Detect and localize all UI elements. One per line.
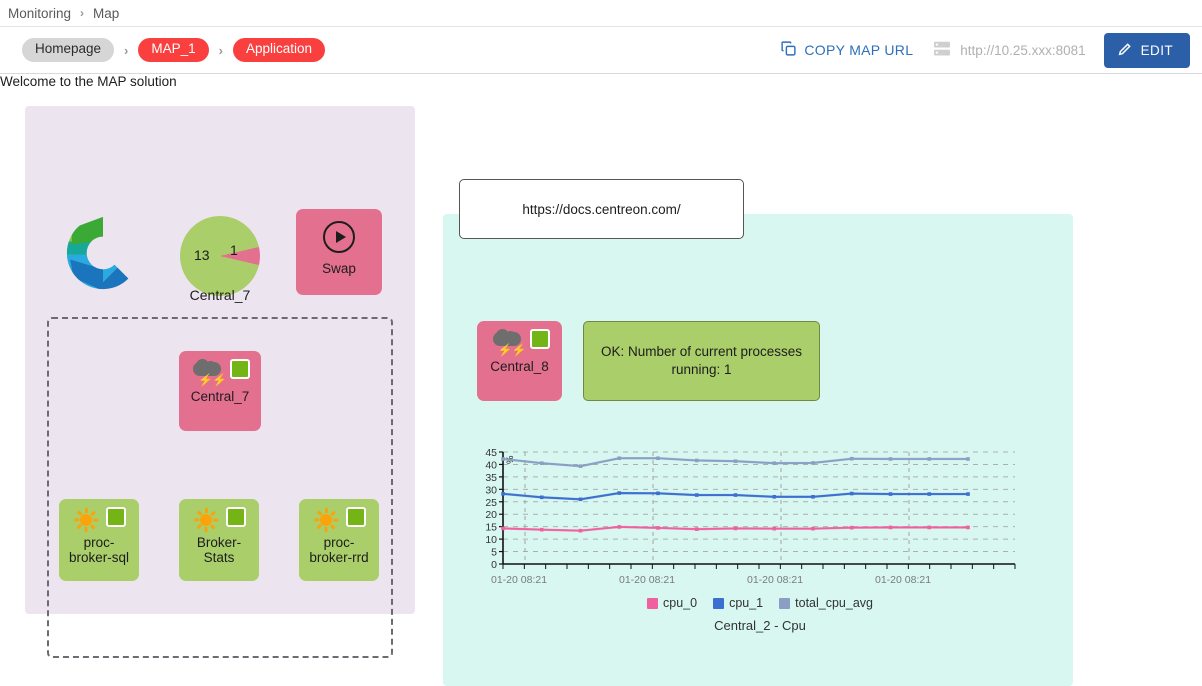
server-icon [933,41,951,60]
host-node-icons: ⚡⚡ [477,321,562,357]
cpu-chart-svg: 051015202530354045% [460,444,1060,592]
copy-icon [780,40,797,60]
chart-x-tick-labels: 01-20 08:2101-20 08:2101-20 08:2101-20 0… [460,574,1060,588]
host-node-label: Central_7 [187,389,254,404]
swap-node-icons [296,209,382,253]
map-url-display: http://10.25.xxx:8081 [933,41,1085,60]
pie-slices [180,216,260,296]
copy-map-url-label: COPY MAP URL [804,42,913,58]
chevron-right-icon: › [219,43,223,58]
service-node-label: Broker-Stats [179,535,259,565]
chart-legend-item[interactable]: cpu_0 [647,596,697,610]
crumb-application[interactable]: Application [233,38,325,62]
legend-label: cpu_1 [729,596,763,610]
svg-text:10: 10 [485,534,497,546]
map-url-text: http://10.25.xxx:8081 [960,43,1085,58]
host-node-label: Central_8 [486,359,553,374]
pencil-icon [1117,41,1133,60]
svg-text:40: 40 [485,459,497,471]
svg-text:35: 35 [485,472,497,484]
swap-action-node[interactable]: Swap [296,209,382,295]
chart-x-tick-label: 01-20 08:21 [747,574,803,586]
sun-icon [312,507,340,533]
cpu-chart-widget[interactable]: 051015202530354045% 01-20 08:2101-20 08:… [460,444,1060,634]
swap-node-label: Swap [318,261,360,276]
status-square-ok-icon [530,329,550,349]
service-node-broker-stats[interactable]: Broker-Stats [179,499,259,581]
legend-label: cpu_0 [663,596,697,610]
legend-swatch [779,598,790,609]
svg-text:5: 5 [491,547,497,559]
service-node-proc-broker-sql[interactable]: proc-broker-sql [59,499,139,581]
svg-text:20: 20 [485,509,497,521]
docs-url-card[interactable]: https://docs.centreon.com/ [459,179,744,239]
service-node-icons [59,499,139,533]
status-square-ok-icon [226,507,246,527]
chart-legend-item[interactable]: cpu_1 [713,596,763,610]
chevron-right-icon: › [124,43,128,58]
sun-icon [72,507,100,533]
status-square-ok-icon [230,359,250,379]
host-node-icons: ⚡⚡ [179,351,261,387]
pie-value-ok: 13 [194,247,210,263]
service-node-label: proc-broker-rrd [299,535,379,565]
edit-button[interactable]: EDIT [1104,33,1190,68]
edit-label: EDIT [1141,43,1173,58]
thunderstorm-cloud-icon: ⚡⚡ [490,329,524,357]
map-canvas[interactable]: 13 1 Central_7 Swap ⚡⚡ Central_7 [0,74,1202,625]
play-circle-icon [323,221,355,253]
chart-legend: cpu_0cpu_1total_cpu_avg [460,596,1060,610]
legend-label: total_cpu_avg [795,596,873,610]
sun-icon [192,507,220,533]
status-square-ok-icon [346,507,366,527]
legend-swatch [713,598,724,609]
centreon-logo[interactable] [62,212,144,294]
map-toolbar: Homepage › MAP_1 › Application COPY MAP … [0,26,1202,74]
chart-legend-item[interactable]: total_cpu_avg [779,596,873,610]
service-node-proc-broker-rrd[interactable]: proc-broker-rrd [299,499,379,581]
copy-map-url-button[interactable]: COPY MAP URL [778,36,915,64]
pie-chart-label: Central_7 [150,287,290,303]
service-node-icons [299,499,379,533]
thunderstorm-cloud-icon: ⚡⚡ [190,359,224,387]
pie-value-critical: 1 [230,242,238,258]
status-square-ok-icon [106,507,126,527]
service-node-label: proc-broker-sql [59,535,139,565]
svg-text:0: 0 [491,559,497,571]
status-pie-chart[interactable]: 13 1 [180,216,260,296]
chevron-right-icon: › [80,6,84,20]
breadcrumb-path: Monitoring › Map [0,0,1202,26]
breadcrumb-root[interactable]: Monitoring [8,6,71,21]
toolbar-actions: COPY MAP URL http://10.25.xxx:8081 EDIT [778,33,1190,68]
service-status-message[interactable]: OK: Number of current processes running:… [583,321,820,401]
crumb-map-1[interactable]: MAP_1 [138,38,208,62]
breadcrumb-current[interactable]: Map [93,6,119,21]
chart-x-tick-label: 01-20 08:21 [619,574,675,586]
svg-text:25: 25 [485,497,497,509]
map-breadcrumb: Homepage › MAP_1 › Application [22,38,325,62]
svg-text:45: 45 [485,447,497,459]
host-node-central-8[interactable]: ⚡⚡ Central_8 [477,321,562,401]
chart-x-tick-label: 01-20 08:21 [491,574,547,586]
welcome-card[interactable]: Welcome to the MAP solution [0,74,177,89]
chart-title: Central_2 - Cpu [460,618,1060,633]
legend-swatch [647,598,658,609]
svg-text:15: 15 [485,522,497,534]
service-node-icons [179,499,259,533]
chart-x-tick-label: 01-20 08:21 [875,574,931,586]
host-node-central-7[interactable]: ⚡⚡ Central_7 [179,351,261,431]
crumb-homepage[interactable]: Homepage [22,38,114,62]
svg-text:30: 30 [485,484,497,496]
